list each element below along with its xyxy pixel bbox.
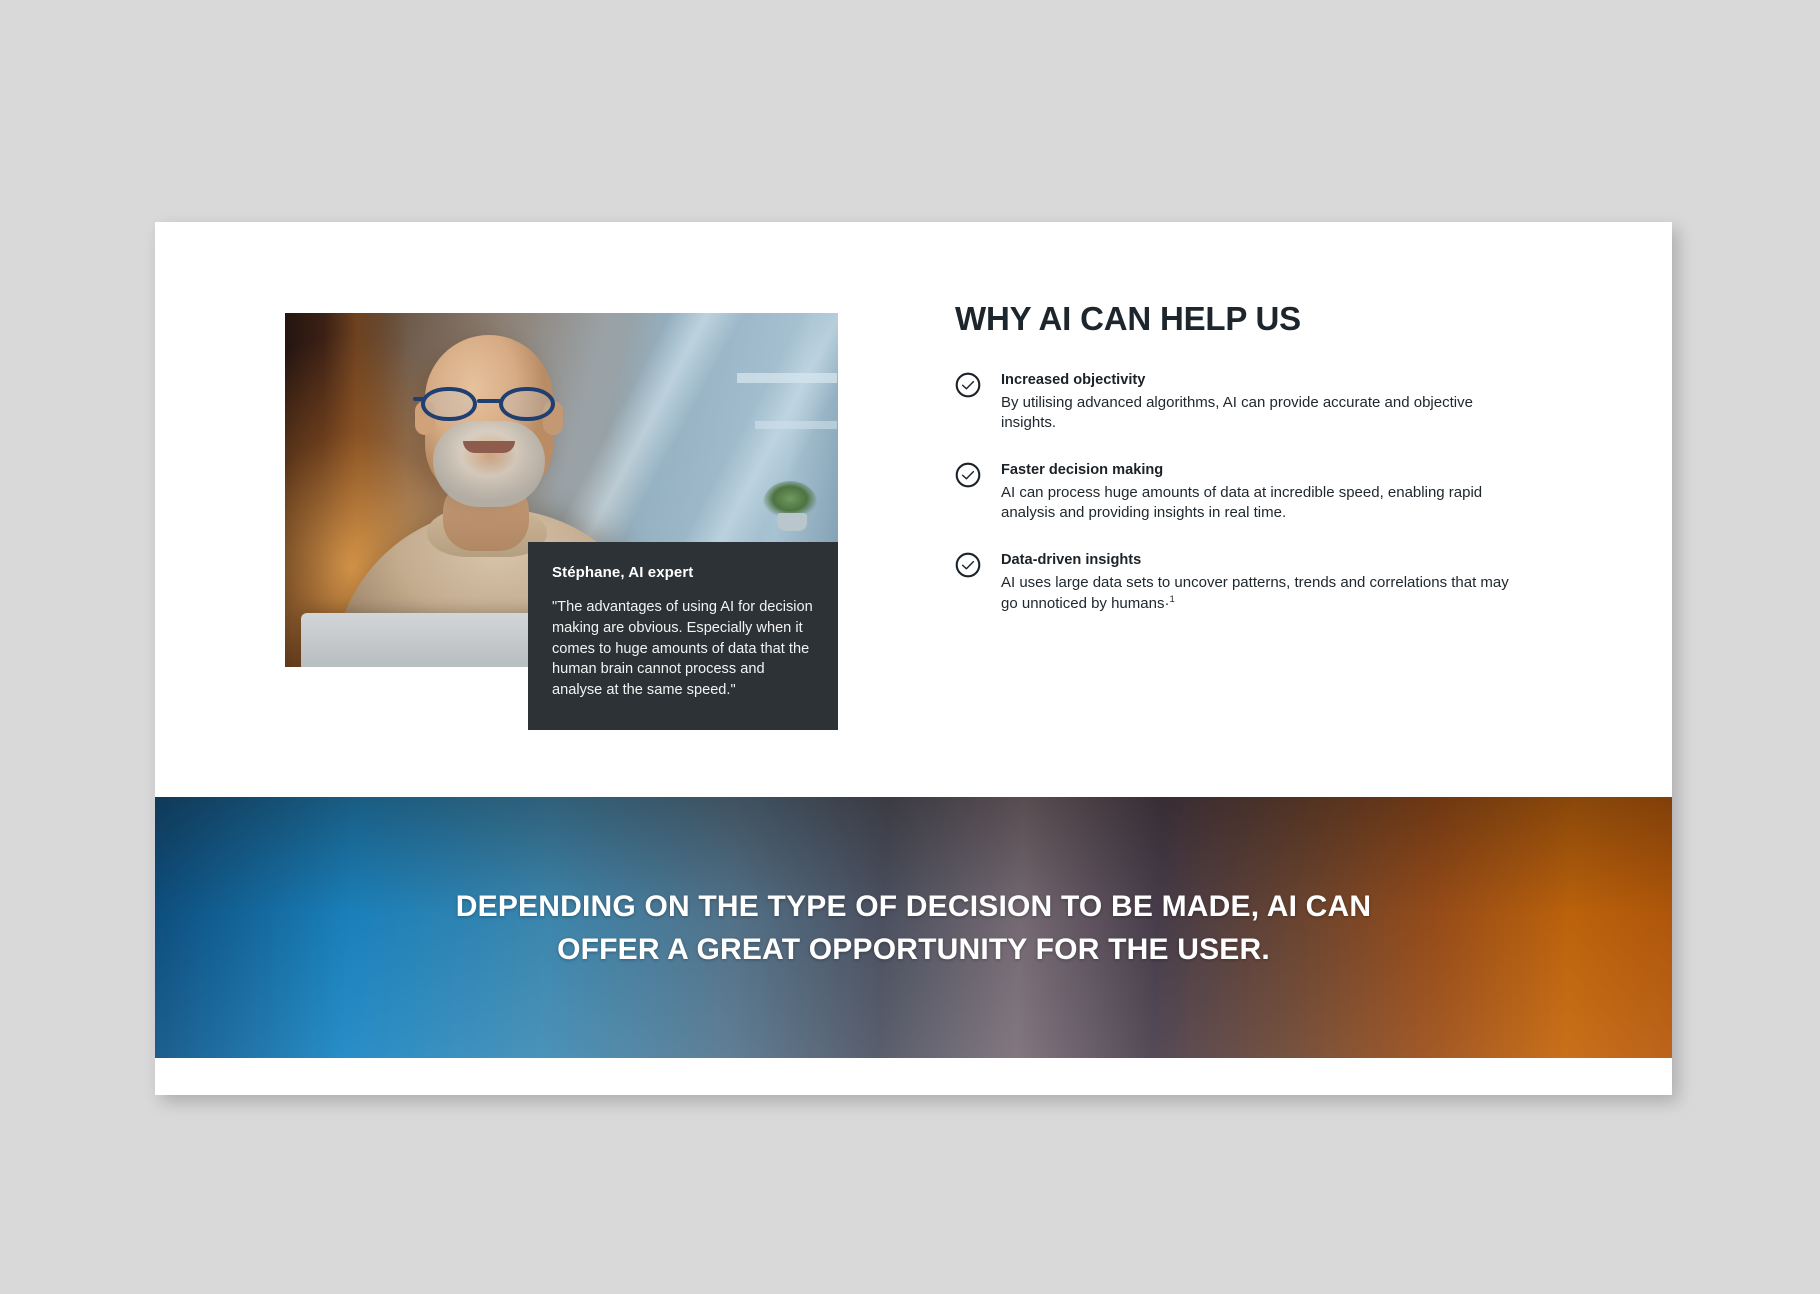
glasses-temple xyxy=(413,397,425,401)
check-circle-icon xyxy=(955,552,981,578)
page-title: WHY AI CAN HELP US xyxy=(955,302,1515,337)
person-mouth xyxy=(463,441,515,453)
benefit-title: Increased objectivity xyxy=(1001,371,1515,390)
benefit-body: By utilising advanced algorithms, AI can… xyxy=(1001,393,1515,434)
banner-line-1: DEPENDING ON THE TYPE OF DECISION TO BE … xyxy=(456,885,1371,928)
benefits-column: WHY AI CAN HELP US Increased objectivity… xyxy=(955,302,1515,614)
benefit-body: AI uses large data sets to uncover patte… xyxy=(1001,573,1515,614)
banner-statement: DEPENDING ON THE TYPE OF DECISION TO BE … xyxy=(155,797,1672,1058)
check-circle-icon xyxy=(955,372,981,398)
quote-author: Stéphane, AI expert xyxy=(552,564,814,581)
footnote-marker: 1 xyxy=(1169,594,1174,605)
benefit-title: Data-driven insights xyxy=(1001,551,1515,570)
glasses-icon xyxy=(417,387,561,421)
slide-content-area: Stéphane, AI expert "The advantages of u… xyxy=(155,222,1672,802)
quote-card: Stéphane, AI expert "The advantages of u… xyxy=(528,542,838,730)
benefit-item-increased-objectivity: Increased objectivity By utilising advan… xyxy=(955,371,1515,434)
glasses-bridge xyxy=(477,399,501,403)
check-circle-icon xyxy=(955,462,981,488)
presentation-slide: Stéphane, AI expert "The advantages of u… xyxy=(155,222,1672,1095)
benefit-item-data-driven-insights: Data-driven insights AI uses large data … xyxy=(955,551,1515,614)
person-beard xyxy=(433,421,545,507)
glasses-lens-right xyxy=(499,387,555,421)
benefit-body-text: AI can process huge amounts of data at i… xyxy=(1001,484,1482,522)
closing-statement-banner: DEPENDING ON THE TYPE OF DECISION TO BE … xyxy=(155,797,1672,1058)
benefit-body: AI can process huge amounts of data at i… xyxy=(1001,483,1515,524)
benefit-body-text: AI uses large data sets to uncover patte… xyxy=(1001,574,1509,612)
benefit-body-text: By utilising advanced algorithms, AI can… xyxy=(1001,394,1473,432)
benefit-item-faster-decision-making: Faster decision making AI can process hu… xyxy=(955,461,1515,524)
quote-text: "The advantages of using AI for decision… xyxy=(552,597,814,701)
banner-line-2: OFFER A GREAT OPPORTUNITY FOR THE USER. xyxy=(557,928,1270,971)
benefit-title: Faster decision making xyxy=(1001,461,1515,480)
glasses-lens-left xyxy=(421,387,477,421)
